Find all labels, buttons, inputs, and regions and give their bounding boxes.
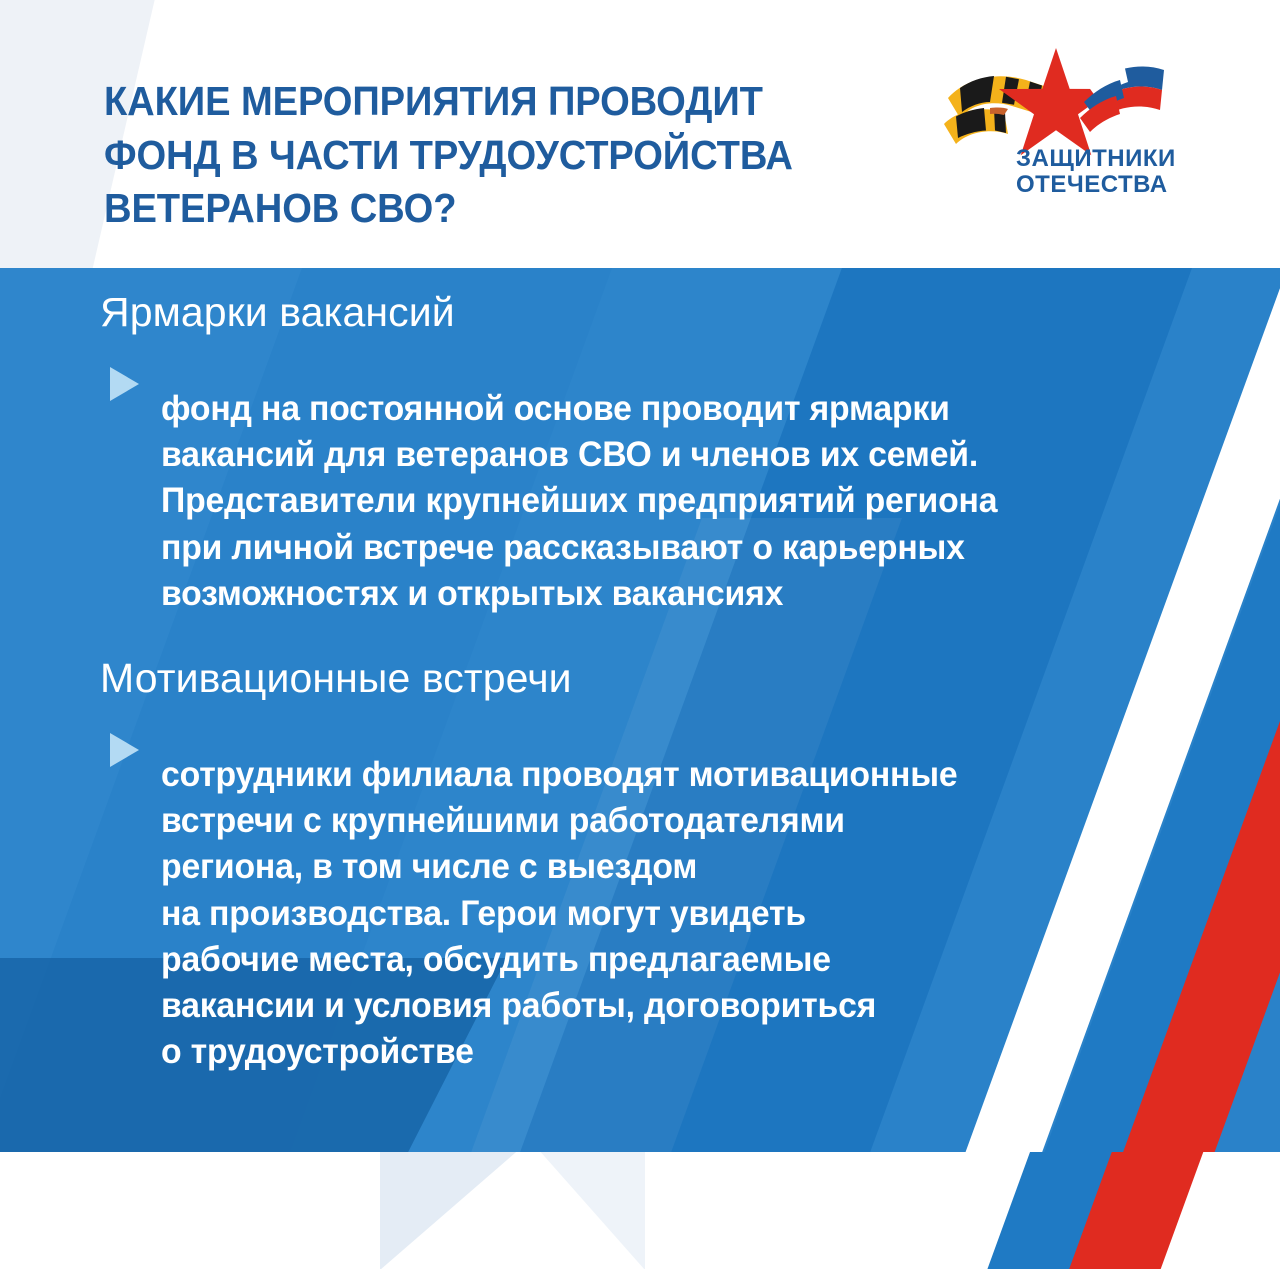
body-line: вакансий для ветеранов СВО и членов их с… [161,432,1202,478]
content-panel: Ярмарки вакансий фонд на постоянной осно… [0,268,1280,1152]
body-line: региона, в том числе с выездом [161,844,1202,890]
bullet-item-motivational-meetings: сотрудники филиала проводят мотивационны… [100,717,1240,1110]
section-job-fairs: Ярмарки вакансий фонд на постоянной осно… [100,290,1240,652]
logo-wordmark-line-2: ОТЕЧЕСТВА [1016,172,1236,198]
section-heading-motivational-meetings: Мотивационные встречи [100,656,1240,701]
section-heading-job-fairs: Ярмарки вакансий [100,290,1240,335]
footer-decor-wedge-left [380,1152,530,1269]
body-line: на производства. Герои могут увидеть [161,891,1202,937]
body-line: при личной встрече рассказывают о карьер… [161,525,1202,571]
page-title-line-3: ВЕТЕРАНОВ СВО? [104,182,876,235]
logo-wordmark: ЗАЩИТНИКИ ОТЕЧЕСТВА [1016,146,1236,198]
body-line: Представители крупнейших предприятий рег… [161,478,1202,524]
panel-content: Ярмарки вакансий фонд на постоянной осно… [0,268,1280,1152]
body-line: о трудоустройстве [161,1029,1202,1075]
footer-decor-wedge-right [530,1152,645,1269]
page-title-line-1: КАКИЕ МЕРОПРИЯТИЯ ПРОВОДИТ [104,75,876,128]
page-title: КАКИЕ МЕРОПРИЯТИЯ ПРОВОДИТ ФОНД В ЧАСТИ … [104,75,876,235]
body-line: вакансии и условия работы, договориться [161,983,1202,1029]
header-band: КАКИЕ МЕРОПРИЯТИЯ ПРОВОДИТ ФОНД В ЧАСТИ … [0,0,1280,268]
bullet-arrow-icon [110,367,139,401]
body-line: встречи с крупнейшими работодателями [161,798,1202,844]
bullet-arrow-icon [110,733,139,767]
body-line: сотрудники филиала проводят мотивационны… [161,752,1202,798]
section-body-job-fairs: фонд на постоянной основе проводит ярмар… [161,386,1202,617]
footer-band [0,1152,1280,1269]
page-title-line-2: ФОНД В ЧАСТИ ТРУДОУСТРОЙСТВА [104,129,876,182]
body-line: фонд на постоянной основе проводит ярмар… [161,386,1202,432]
logo-wordmark-line-1: ЗАЩИТНИКИ [1016,146,1236,172]
section-body-motivational-meetings: сотрудники филиала проводят мотивационны… [161,752,1202,1075]
body-line: возможностях и открытых вакансиях [161,571,1202,617]
section-motivational-meetings: Мотивационные встречи сотрудники филиала… [100,656,1240,1110]
bullet-item-job-fairs: фонд на постоянной основе проводит ярмар… [100,351,1240,652]
poster: КАКИЕ МЕРОПРИЯТИЯ ПРОВОДИТ ФОНД В ЧАСТИ … [0,0,1280,1269]
logo: ЗАЩИТНИКИ ОТЕЧЕСТВА [938,36,1238,221]
body-line: рабочие места, обсудить предлагаемые [161,937,1202,983]
russian-flag-wave-icon [1080,45,1166,132]
